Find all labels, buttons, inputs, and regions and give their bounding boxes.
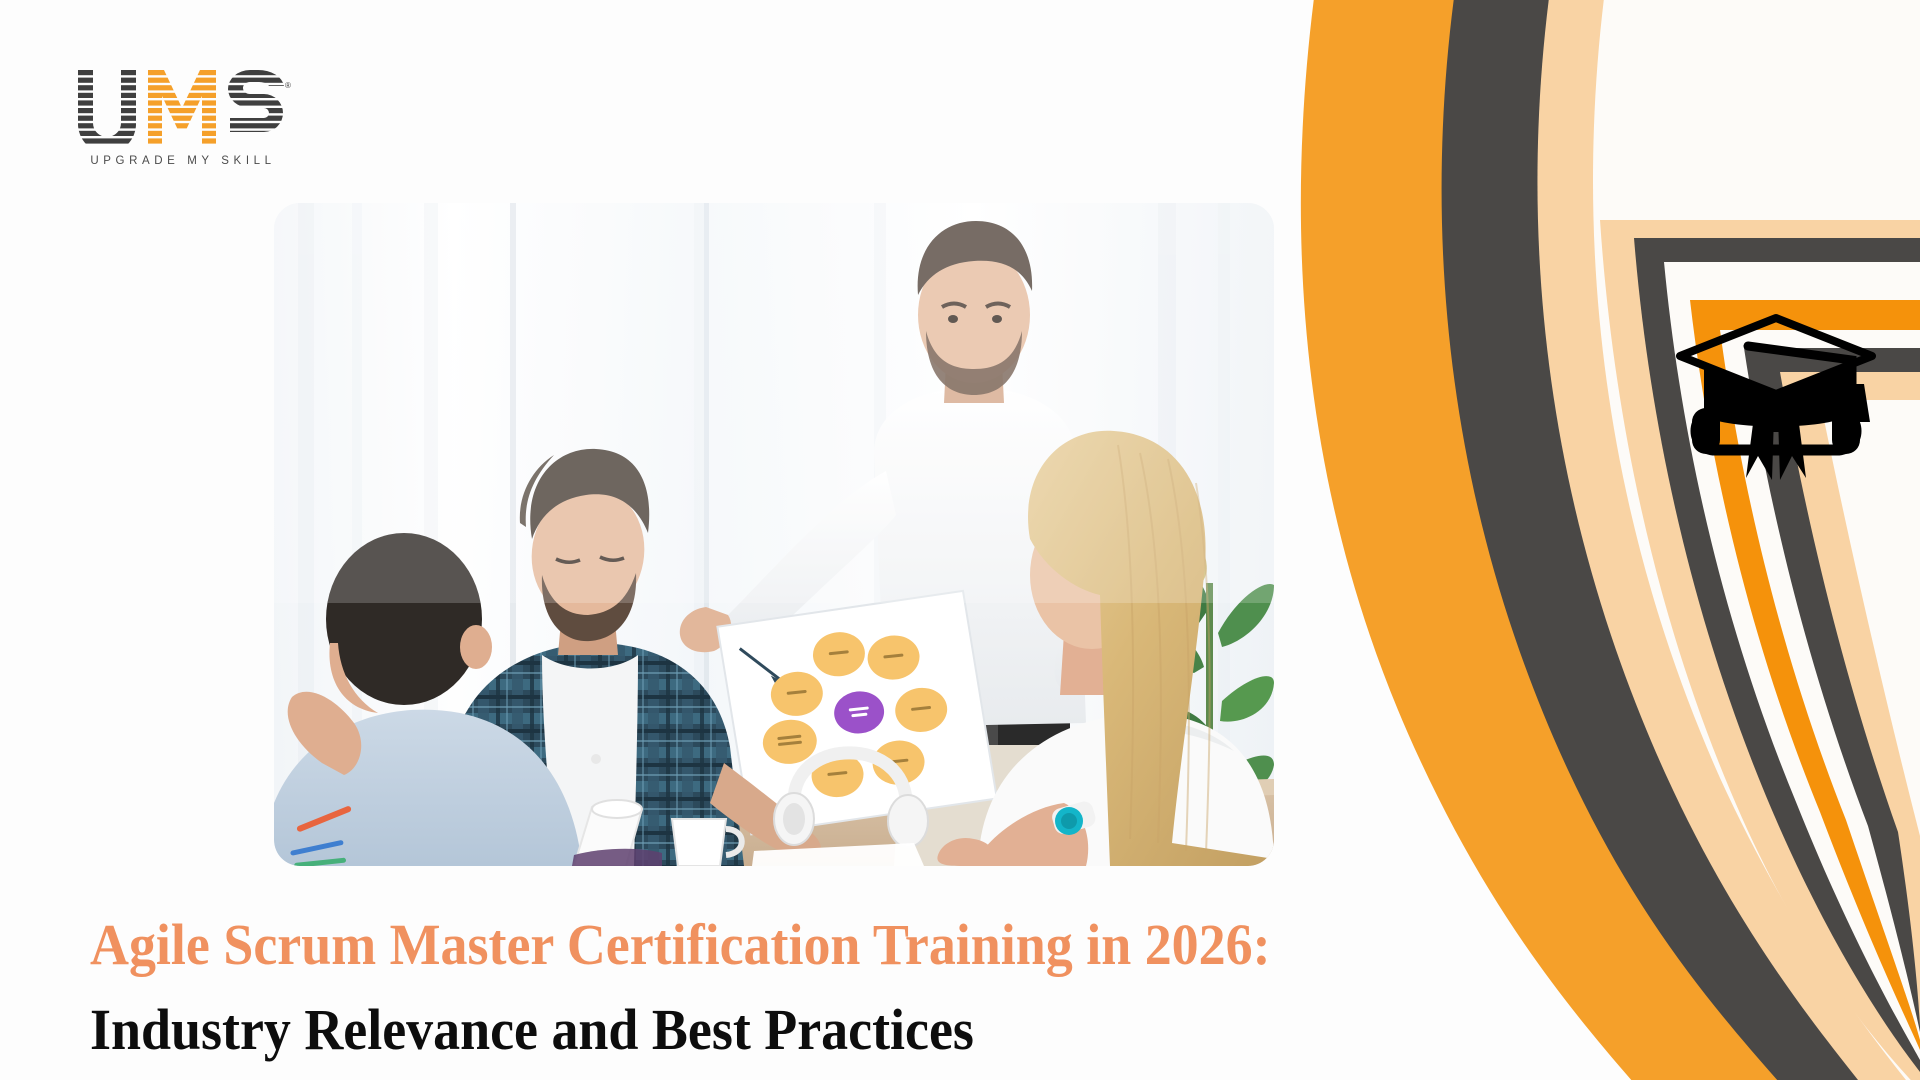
title-line-1: Agile Scrum Master Certification Trainin…	[90, 916, 1318, 974]
ums-logo-icon: ®	[72, 68, 292, 150]
hero-photo	[274, 203, 1274, 866]
window-glare	[274, 203, 1274, 603]
ribbon-peach	[1537, 0, 1920, 1080]
graduation-cap-icon	[1676, 312, 1876, 484]
title-line-2: Industry Relevance and Best Practices	[90, 1001, 1318, 1059]
logo-tagline: UPGRADE MY SKILL	[72, 155, 294, 167]
poster-canvas: ® UPGRADE MY SKILL	[0, 0, 1920, 1080]
registered-mark: ®	[285, 81, 291, 90]
photo-scene	[274, 203, 1274, 866]
brand-logo[interactable]: ® UPGRADE MY SKILL	[72, 68, 302, 167]
page-title: Agile Scrum Master Certification Trainin…	[90, 916, 1410, 1059]
ribbon-white	[1593, 0, 1920, 1080]
ribbon-dark-gray	[1442, 0, 1920, 1080]
